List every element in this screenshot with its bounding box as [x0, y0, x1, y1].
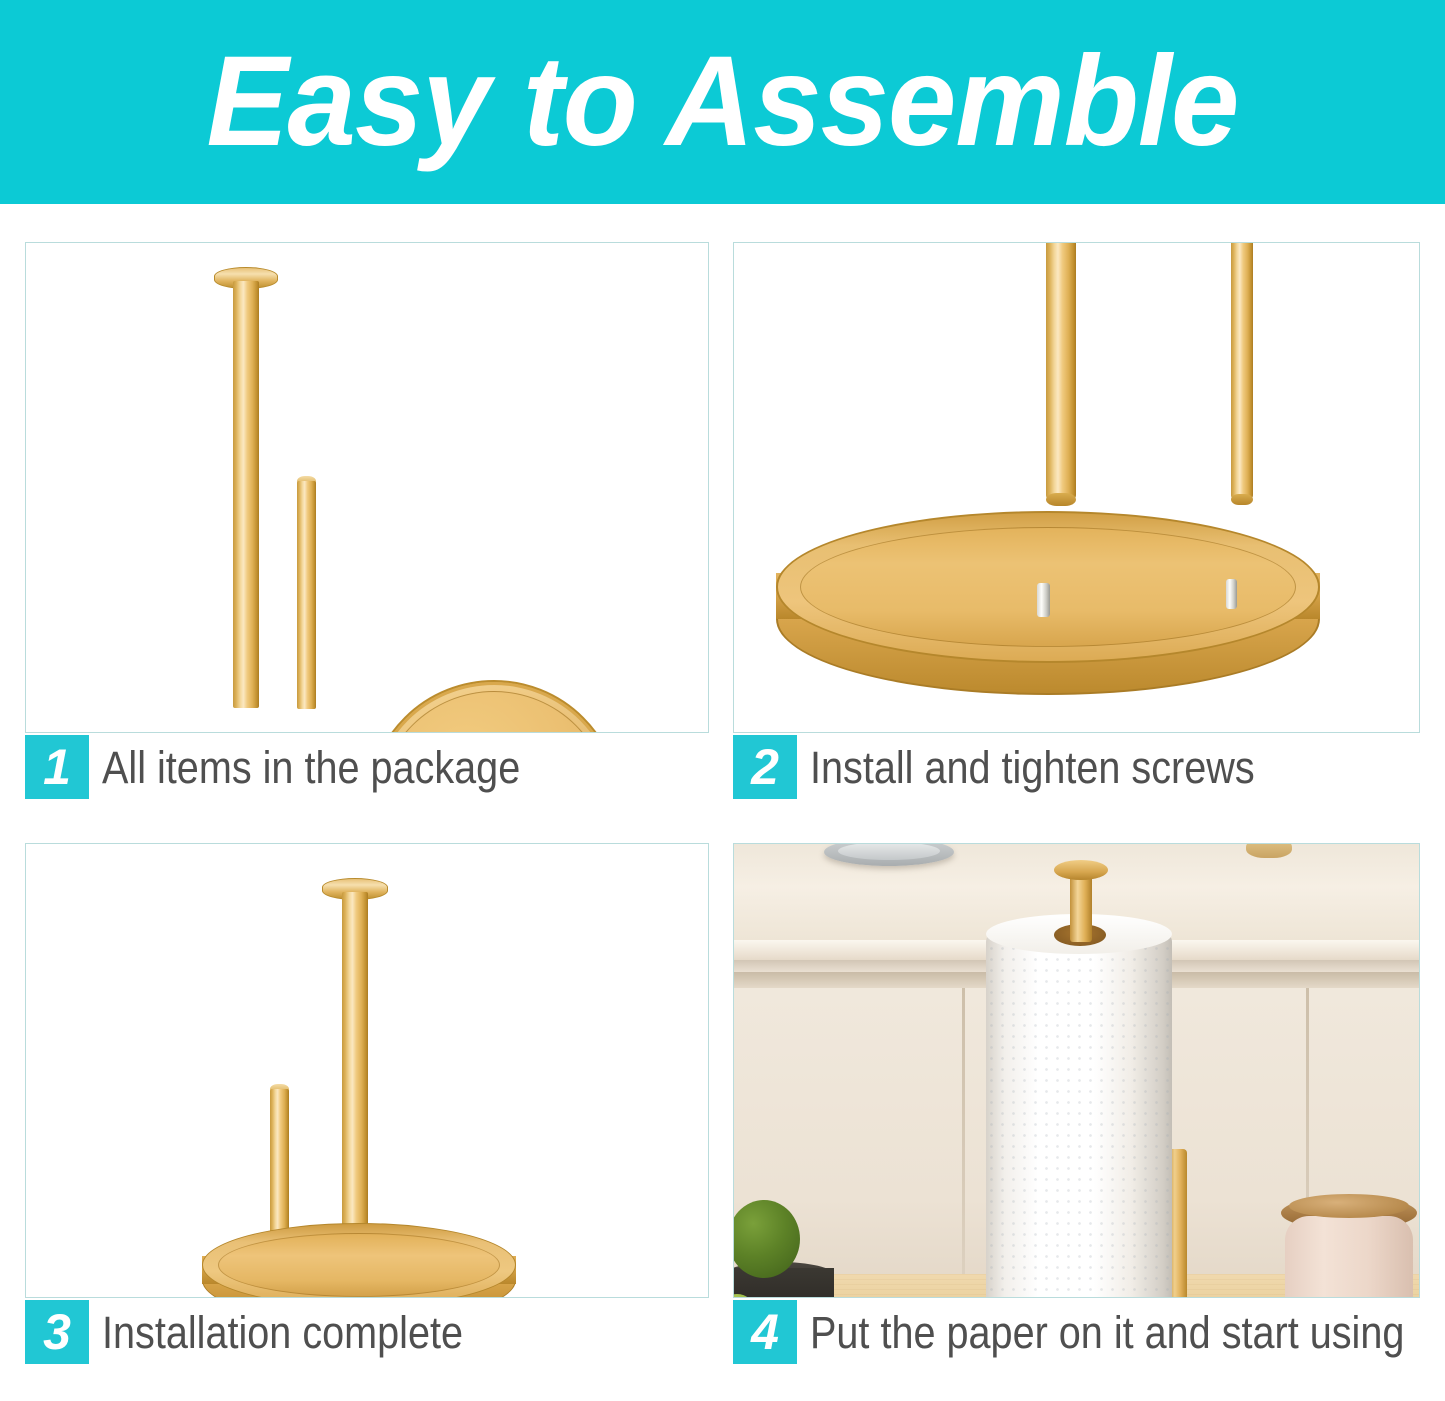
- step-3-caption: Installation complete: [102, 1310, 463, 1355]
- long-rod-part: [233, 281, 259, 708]
- step-card-1: 1 All items in the package: [25, 242, 709, 772]
- step-4-number-badge: 4: [733, 1300, 797, 1364]
- step-2-illustration-frame: [733, 242, 1420, 733]
- assembled-tray-top: [202, 1223, 516, 1298]
- assembled-tray-inner-face: [218, 1233, 500, 1297]
- kitchen-scene-photo: [734, 844, 1419, 1297]
- header-banner: Easy to Assemble: [0, 0, 1445, 204]
- center-pole-bottom-icon: [1046, 493, 1076, 506]
- side-arm-bottom-icon: [1231, 494, 1253, 505]
- cabinet-seam-left: [962, 988, 965, 1288]
- step-4-photo-frame: [733, 843, 1420, 1298]
- step-card-4: 4 Put the paper on it and start using: [733, 843, 1420, 1337]
- step-3-number-badge: 3: [25, 1300, 89, 1364]
- short-rod-part: [297, 481, 316, 709]
- canister-wooden-lid: [1289, 1194, 1409, 1218]
- screw-left-icon: [1037, 583, 1050, 617]
- holder-top-cap-icon: [1054, 860, 1108, 880]
- screw-right-icon: [1226, 579, 1237, 609]
- step-1-number-badge: 1: [25, 735, 89, 799]
- paper-towel-texture: [986, 932, 1172, 1297]
- step-1-caption-row: 1 All items in the package: [25, 735, 577, 799]
- side-arm-part: [1231, 242, 1253, 501]
- base-plate-part: [367, 680, 621, 733]
- step-2-caption-row: 2 Install and tighten screws: [733, 735, 1315, 799]
- center-pole-part: [1046, 242, 1076, 501]
- base-plate-inner-face: [378, 691, 610, 733]
- step-card-2: 2 Install and tighten screws: [733, 242, 1420, 772]
- step-card-3: 3 Installation complete: [25, 843, 709, 1337]
- step-4-caption-row: 4 Put the paper on it and start using: [733, 1300, 1445, 1364]
- pink-canister: [1285, 1216, 1413, 1297]
- wood-knob-icon: [1246, 844, 1292, 858]
- steps-grid: 1 All items in the package 2 Install and…: [0, 204, 1445, 1401]
- step-4-caption: Put the paper on it and start using: [810, 1310, 1404, 1355]
- holder-top-pole: [1070, 870, 1092, 942]
- step-1-illustration-frame: [25, 242, 709, 733]
- step-1-caption: All items in the package: [102, 745, 520, 790]
- page-title: Easy to Assemble: [207, 38, 1239, 166]
- step-2-caption: Install and tighten screws: [810, 745, 1255, 790]
- step-2-number-badge: 2: [733, 735, 797, 799]
- step-3-illustration-frame: [25, 843, 709, 1298]
- step-3-caption-row: 3 Installation complete: [25, 1300, 512, 1364]
